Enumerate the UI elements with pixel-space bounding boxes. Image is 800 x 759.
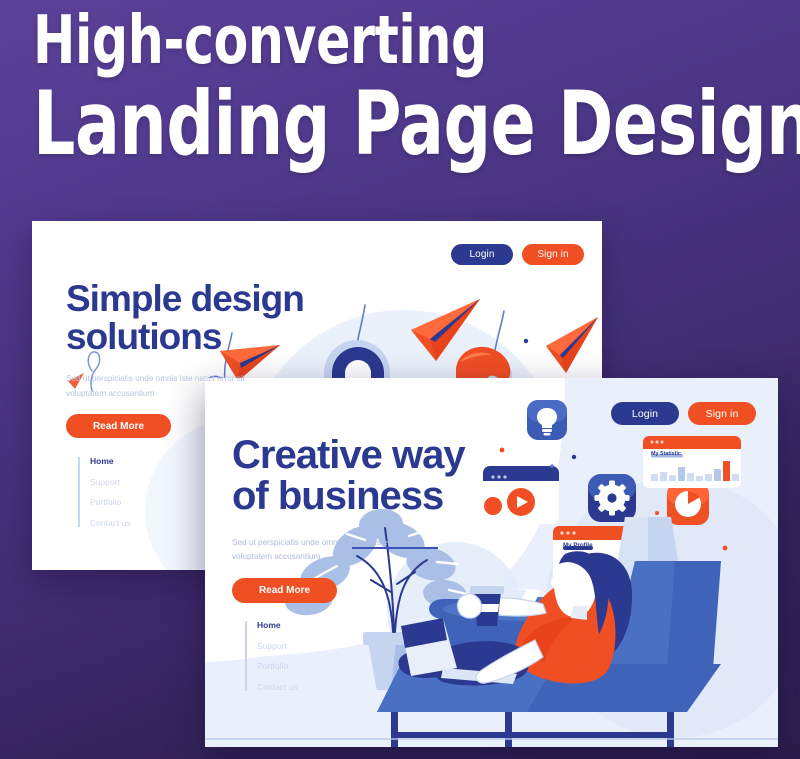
card2-heading-line-2: of business (232, 474, 443, 518)
login-button[interactable]: Login (611, 402, 679, 425)
card2-read-more-button[interactable]: Read More (232, 578, 337, 603)
pie-chart-icon (667, 483, 709, 525)
card1-side-menu: Home Support Portfolio Contact us (78, 457, 131, 527)
card1-subtext-line-2: voluptatem accusantium (66, 387, 296, 401)
sidebar-item-contact-us[interactable]: Contact us (90, 519, 131, 528)
sidebar-item-portfolio[interactable]: Portfolio (90, 498, 131, 507)
statistic-card (643, 436, 741, 488)
card2-subtext-line-2: voluptatem accusantium (232, 550, 462, 564)
gear-icon (588, 474, 636, 522)
title-line-2: Landing Page Design (33, 81, 646, 166)
lightbulb-icon (527, 400, 567, 440)
poster-canvas: High-converting Landing Page Design (0, 0, 800, 759)
card2-subtext-line-1: Sed ut perspiciatis unde omnis iste natu… (232, 536, 462, 550)
paper-plane-icon (546, 317, 598, 373)
sidebar-item-portfolio[interactable]: Portfolio (257, 662, 298, 671)
card1-heading: Simple design solutions (66, 280, 304, 355)
statistic-card-title: My Statistic (651, 451, 681, 457)
sidebar-item-home[interactable]: Home (90, 457, 131, 466)
card2-hero: Creative way of business Sed ut perspici… (232, 435, 465, 603)
profile-card-title: My Profile (563, 542, 593, 549)
card1-heading-line-1: Simple design (66, 278, 304, 319)
poster-title: High-converting Landing Page Design (33, 8, 763, 166)
card2-side-menu: Home Support Portfolio Contact us (245, 621, 298, 691)
card1-read-more-button[interactable]: Read More (66, 414, 171, 438)
title-line-1: High-converting (33, 8, 646, 73)
card2-heading: Creative way of business (232, 435, 465, 517)
login-button[interactable]: Login (451, 244, 513, 265)
signin-button[interactable]: Sign in (688, 402, 756, 425)
video-player-icon (483, 466, 559, 524)
card1-subtext-line-1: Sed ut perspiciatis unde omnis iste natu… (66, 372, 296, 386)
signin-button[interactable]: Sign in (522, 244, 584, 265)
sidebar-item-contact-us[interactable]: Contact us (257, 683, 298, 692)
card2-nav-buttons: Login Sign in (611, 402, 756, 425)
sidebar-item-support[interactable]: Support (257, 642, 298, 651)
card1-nav-buttons: Login Sign in (451, 244, 584, 265)
card1-heading-line-2: solutions (66, 316, 221, 357)
sidebar-item-home[interactable]: Home (257, 621, 298, 630)
card1-hero: Simple design solutions Sed ut perspicia… (66, 280, 304, 438)
landing-page-card-2: Login Sign in Creative way of business S… (205, 378, 778, 747)
sidebar-item-support[interactable]: Support (90, 478, 131, 487)
card2-heading-line-1: Creative way (232, 433, 465, 477)
